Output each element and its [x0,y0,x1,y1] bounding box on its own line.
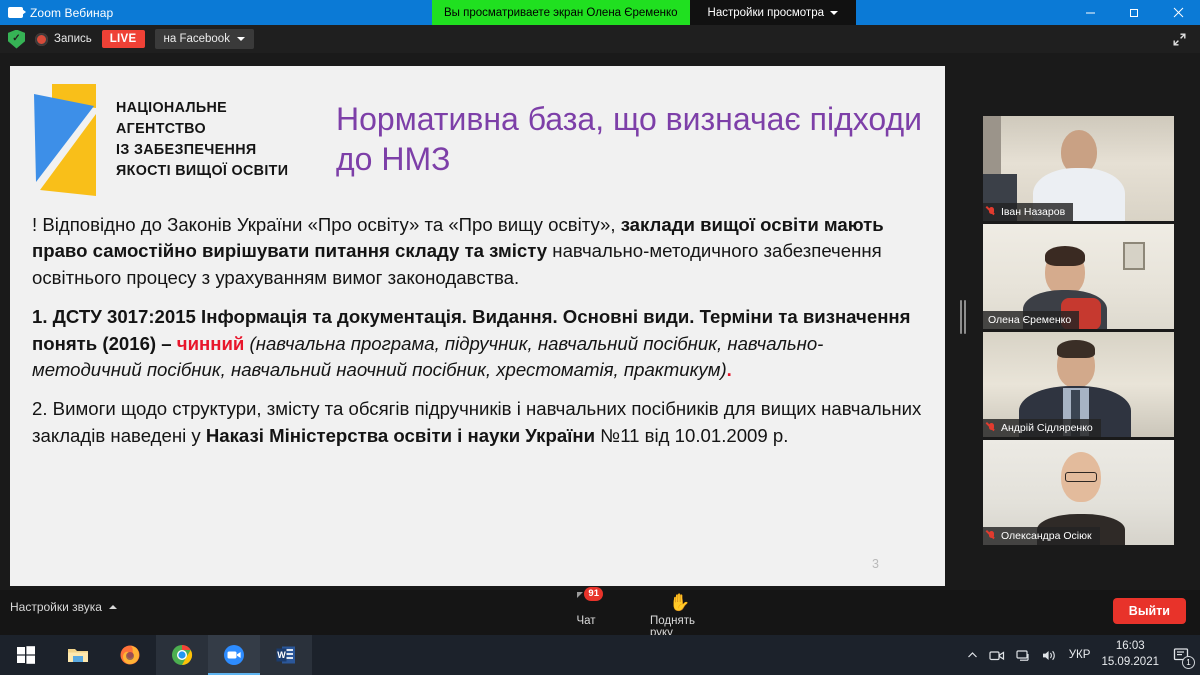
chevron-down-icon [830,11,838,15]
audio-settings-label: Настройки звука [10,600,102,614]
person-hair [1045,246,1085,266]
participant-video-strip: Іван Назаров Олена Єременко [983,116,1174,548]
word-icon: W [275,644,297,666]
record-label: Запись [54,33,92,45]
clock-date: 15.09.2021 [1101,656,1159,668]
zoom-app-icon [8,7,23,18]
start-icon [16,645,36,665]
panel-resize-handle[interactable] [960,300,969,334]
notification-count: 1 [1182,656,1195,669]
logo-line-1: НАЦІОНАЛЬНЕ [116,98,288,119]
eyeglasses [1065,472,1097,482]
mic-muted-icon [988,531,996,542]
audio-settings-button[interactable]: Настройки звука [10,600,117,614]
control-buttons: 91 Чат ✋ Поднять руку [556,593,710,639]
mic-muted-icon [988,207,996,218]
handle-bar [960,300,962,334]
chrome-button[interactable] [156,635,208,675]
chat-unread-badge: 91 [584,587,603,601]
slide-paragraph-1: ! Відповідно до Законів України «Про осв… [32,212,927,291]
live-target-label: на Facebook [164,33,230,45]
leave-button[interactable]: Выйти [1113,598,1186,624]
slide-body: ! Відповідно до Законів України «Про осв… [10,198,945,449]
meeting-control-bar: Настройки звука 91 Чат ✋ Поднять руку Вы… [0,590,1200,635]
participant-tile[interactable]: Іван Назаров [983,116,1174,221]
shared-screen-slide: НАЦІОНАЛЬНЕ АГЕНТСТВО ІЗ ЗАБЕЗПЕЧЕННЯ ЯК… [10,66,945,586]
slide-paragraph-2: 1. ДСТУ 3017:2015 Інформація та документ… [32,304,927,383]
chevron-up-icon [109,605,117,609]
restore-button[interactable] [1112,0,1156,25]
windows-taskbar: W [0,635,1200,675]
word-button[interactable]: W [260,635,312,675]
raised-hand-icon: ✋ [669,593,690,613]
expand-icon[interactable] [1166,28,1192,50]
chat-button[interactable]: 91 Чат [556,593,616,639]
firefox-icon [119,644,141,666]
window-buttons [1068,0,1200,25]
slide-paragraph-3: 2. Вимоги щодо структури, змісту та обся… [32,396,927,449]
wall-picture [1123,242,1145,270]
record-dot-icon [35,33,48,46]
firefox-button[interactable] [104,635,156,675]
p1-lead: ! Відповідно до Законів України «Про осв… [32,214,621,235]
logo-line-2: АГЕНТСТВО [116,119,288,140]
minimize-button[interactable] [1068,0,1112,25]
chrome-icon [171,644,193,666]
slide-page-number: 3 [872,557,879,571]
chevron-down-icon [237,37,245,41]
live-badge: LIVE [102,30,145,48]
p2-accent: чинний [177,333,245,354]
participant-tile[interactable]: Олександра Осіюк [983,440,1174,545]
p2-tail: . [727,359,732,380]
view-options-label: Настройки просмотра [708,7,824,19]
live-target-button[interactable]: на Facebook [155,29,254,49]
participant-name-badge: Іван Назаров [983,203,1073,221]
security-shield-icon[interactable]: ✓ [8,30,25,49]
close-button[interactable] [1156,0,1200,25]
svg-text:W: W [277,650,286,660]
participant-name: Андрій Сідляренко [1001,422,1093,434]
participant-name-badge: Олена Єременко [983,311,1079,329]
participant-tile[interactable]: Олена Єременко [983,224,1174,329]
camera-icon[interactable] [989,649,1005,662]
file-explorer-icon [67,645,89,665]
raise-hand-button[interactable]: ✋ Поднять руку [650,593,710,639]
volume-icon[interactable] [1042,649,1058,662]
recording-indicator[interactable]: Запись [35,33,92,46]
p3-bold: Наказі Міністерства освіти і науки Украї… [206,425,595,446]
app-title-group: Zoom Вебинар [0,0,432,25]
view-options-button[interactable]: Настройки просмотра [690,0,856,25]
participant-name: Іван Назаров [1001,206,1065,218]
system-tray: УКР 16:03 15.09.2021 1 [967,635,1200,675]
participant-tile[interactable]: Андрій Сідляренко [983,332,1174,437]
p3-tail: №11 від 10.01.2009 р. [595,425,788,446]
participant-name-badge: Андрій Сідляренко [983,419,1101,437]
zoom-webinar-window: Zoom Вебинар Вы просматриваете экран Оле… [0,0,1200,675]
chat-label: Чат [576,615,595,627]
participant-name: Олександра Осіюк [1001,530,1092,542]
logo-line-4: ЯКОСТІ ВИЩОЇ ОСВІТИ [116,161,288,182]
person-hair [1057,340,1095,358]
slide-header: НАЦІОНАЛЬНЕ АГЕНТСТВО ІЗ ЗАБЕЗПЕЧЕННЯ ЯК… [10,66,945,198]
chat-icon: 91 [575,593,597,613]
zoom-top-toolbar: ✓ Запись LIVE на Facebook [0,25,1200,53]
zoom-icon [223,644,245,666]
zoom-button[interactable] [208,635,260,675]
notifications-button[interactable]: 1 [1170,644,1192,666]
naqa-logo-text: НАЦІОНАЛЬНЕ АГЕНТСТВО ІЗ ЗАБЕЗПЕЧЕННЯ ЯК… [116,80,288,198]
handle-bar [964,300,966,334]
clock[interactable]: 16:03 15.09.2021 [1101,639,1159,670]
file-explorer-button[interactable] [52,635,104,675]
logo-line-3: ІЗ ЗАБЕЗПЕЧЕННЯ [116,140,288,161]
start-button[interactable] [0,635,52,675]
clock-time: 16:03 [1116,640,1145,652]
window-title-bar: Zoom Вебинар Вы просматриваете экран Оле… [0,0,1200,25]
mic-muted-icon [988,423,996,434]
participant-name: Олена Єременко [988,314,1071,326]
naqa-logo: НАЦІОНАЛЬНЕ АГЕНТСТВО ІЗ ЗАБЕЗПЕЧЕННЯ ЯК… [24,80,324,198]
screenshare-banner: Вы просматриваете экран Олена Єременко [432,0,690,25]
chevron-up-icon[interactable] [967,651,978,659]
taskbar-items: W [0,635,312,675]
language-indicator[interactable]: УКР [1069,649,1091,661]
slide-title: Нормативна база, що визначає підходи до … [324,80,945,198]
naqa-logo-mark-icon [24,80,104,198]
participant-name-badge: Олександра Осіюк [983,527,1100,545]
network-icon[interactable] [1016,649,1031,662]
window-title: Zoom Вебинар [30,6,113,20]
